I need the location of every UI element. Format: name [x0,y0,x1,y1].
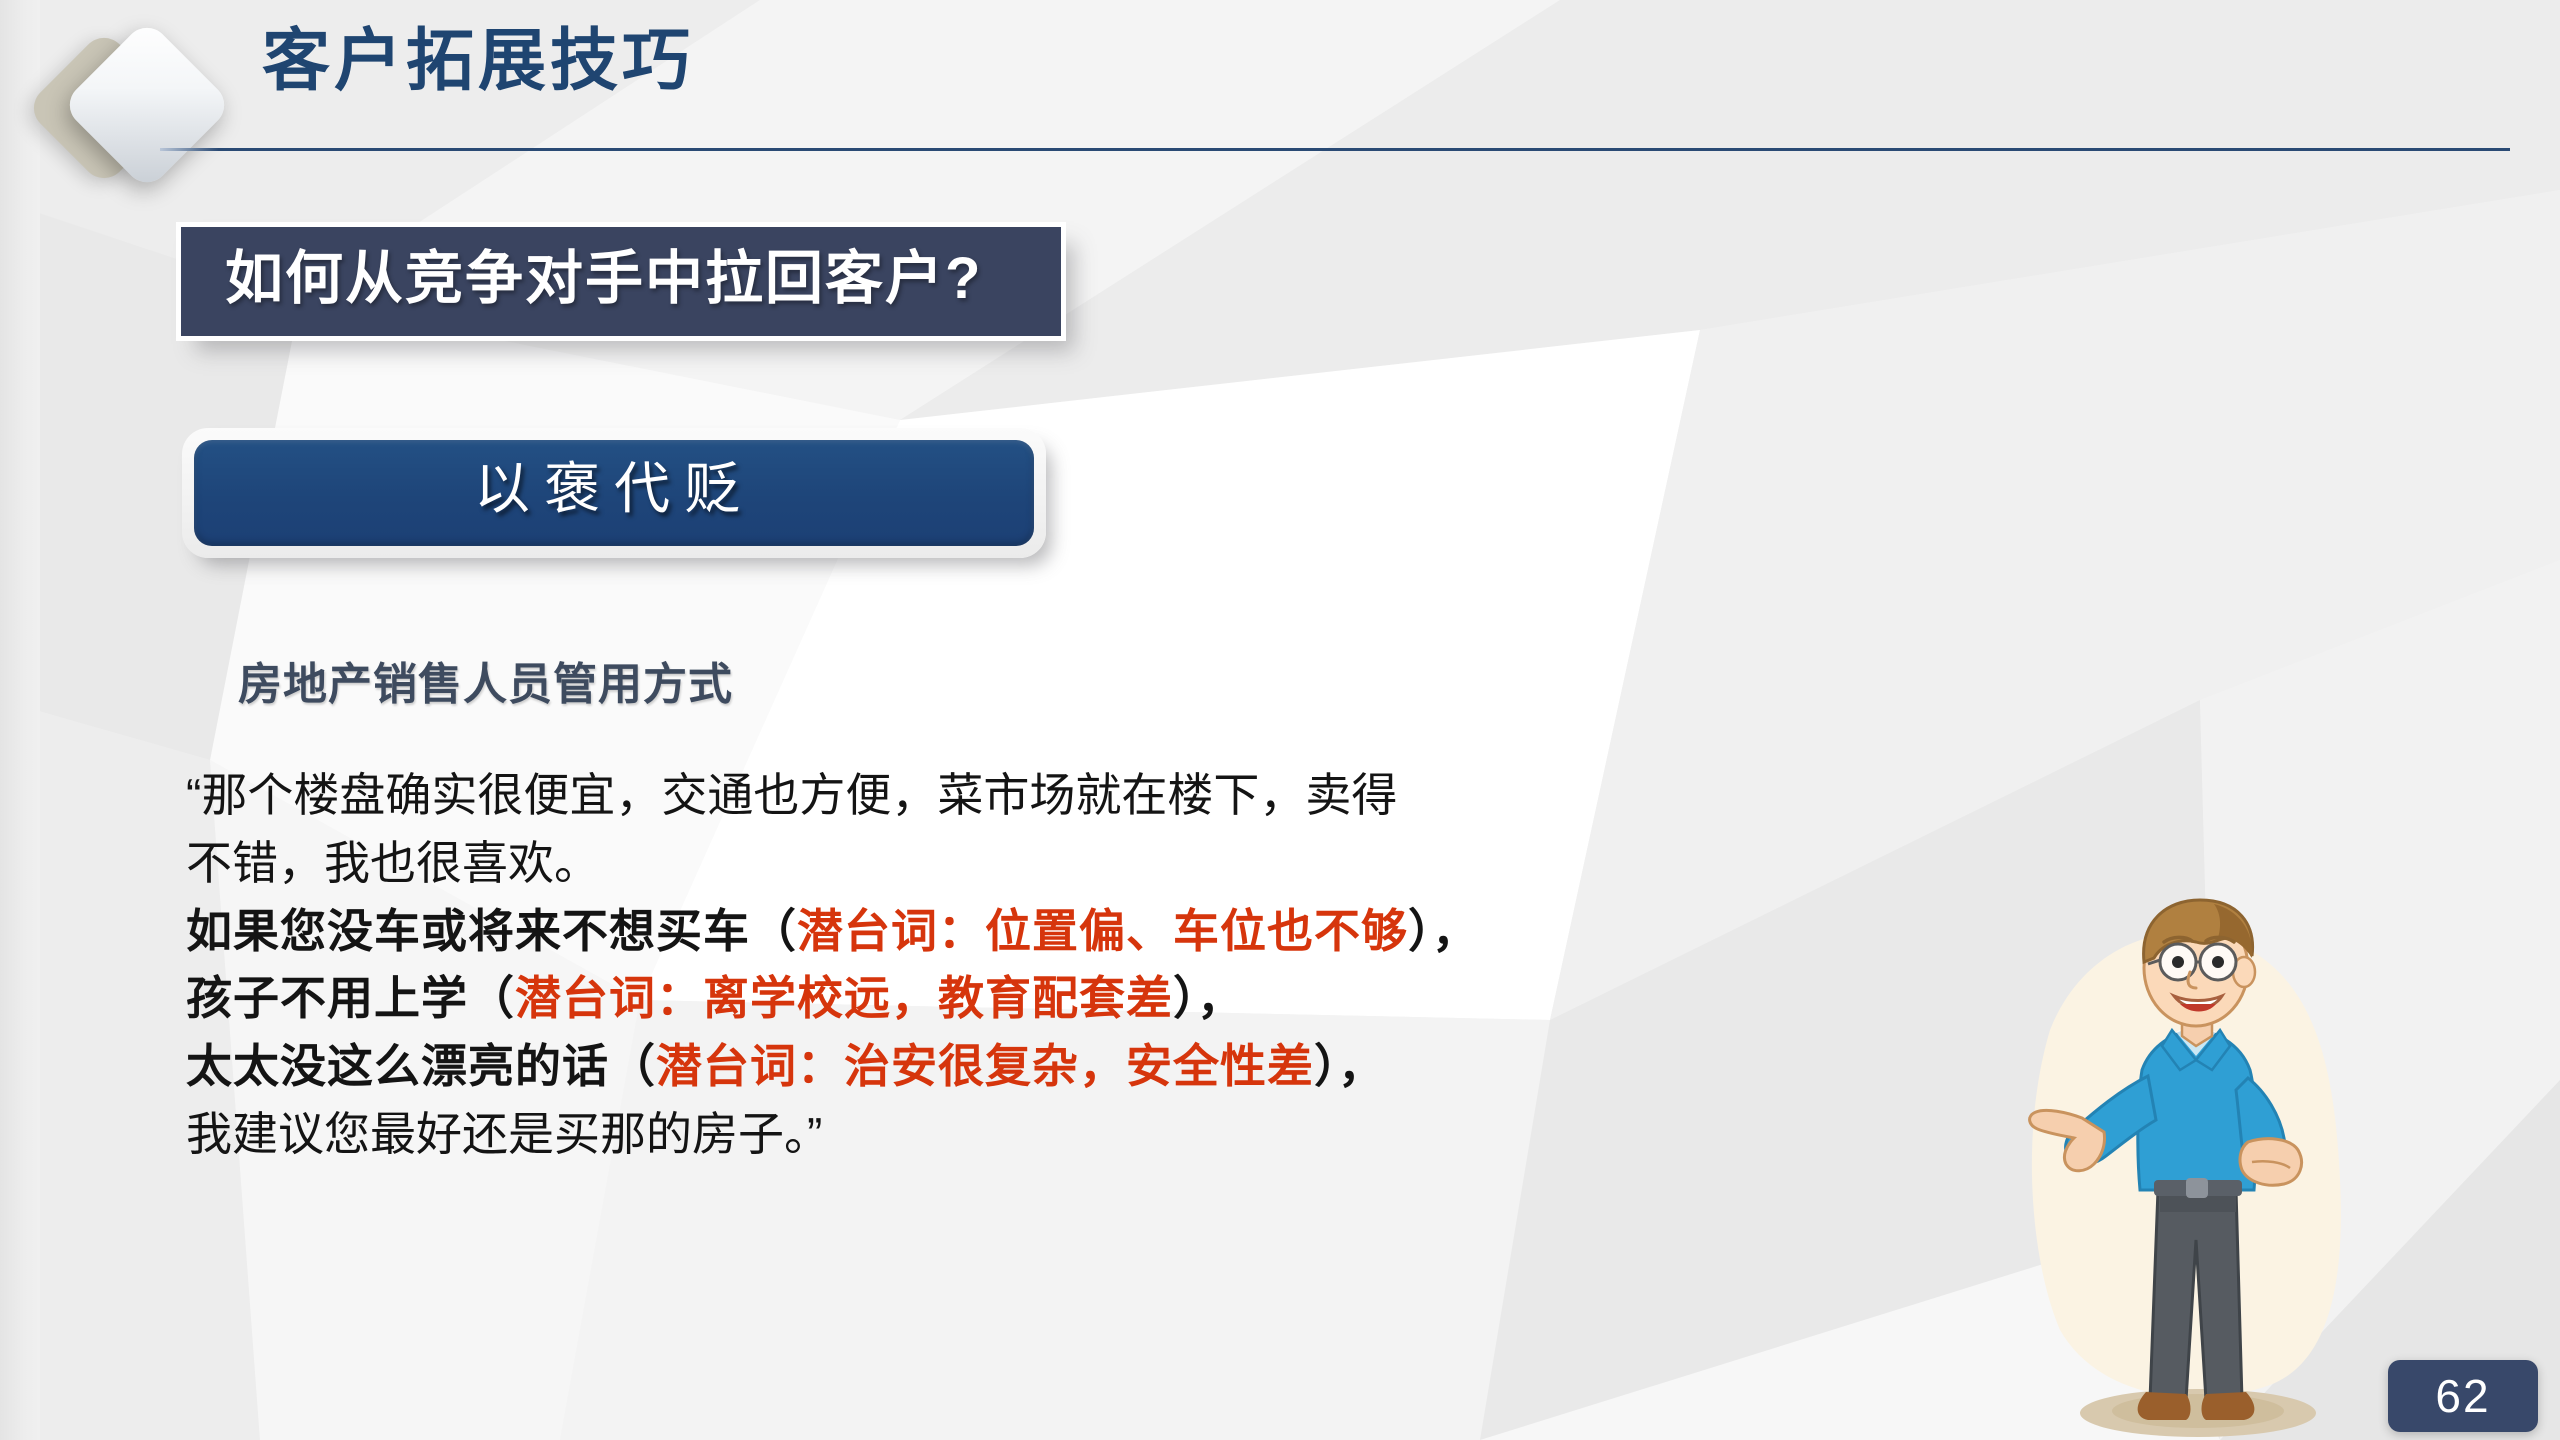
body-line-3: 如果您没车或将来不想买车（潜台词：位置偏、车位也不够）， [186,902,1886,962]
diamond-logo-decoration [30,18,220,198]
page-number-badge: 62 [2388,1360,2538,1432]
body-line-1: “那个楼盘确实很便宜，交通也方便，菜市场就在楼下，卖得 [186,766,1886,826]
presentation-slide: 客户拓展技巧 如何从竞争对手中拉回客户? 以褒代贬 房地产销售人员管用方式 “那… [0,0,2560,1440]
question-banner-fill: 如何从竞争对手中拉回客户? [181,227,1061,336]
body-line-4-post: ）， [1173,972,1244,1024]
body-line-5-post: ）， [1314,1040,1385,1092]
question-banner: 如何从竞争对手中拉回客户? [176,222,1066,341]
page-title: 客户拓展技巧 [262,22,694,100]
body-line-6: 我建议您最好还是买那的房子。” [186,1105,1886,1165]
body-line-4-subtext: 潜台词：离学校远，教育配套差 [515,972,1173,1024]
technique-pill-fill[interactable]: 以褒代贬 [194,440,1034,546]
body-line-3-subtext: 潜台词：位置偏、车位也不够 [797,905,1408,957]
body-line-5-subtext: 潜台词：治安很复杂，安全性差 [656,1040,1314,1092]
body-line-5: 太太没这么漂亮的话（潜台词：治安很复杂，安全性差）， [186,1037,1886,1097]
body-line-2: 不错，我也很喜欢。 [186,834,1886,894]
body-line-4-pre: 孩子不用上学（ [186,972,515,1024]
technique-pill-label: 以褒代贬 [474,459,754,521]
left-accent-band [0,0,40,1440]
body-line-5-pre: 太太没这么漂亮的话（ [186,1040,656,1092]
question-banner-label: 如何从竞争对手中拉回客户? [225,249,1017,310]
title-divider [160,148,2510,151]
body-line-4: 孩子不用上学（潜台词：离学校远，教育配套差）， [186,969,1886,1029]
pointing-man-illustration [1990,880,2410,1440]
body-line-3-pre: 如果您没车或将来不想买车（ [186,905,797,957]
sub-heading: 房地产销售人员管用方式 [238,648,733,712]
body-line-3-post: ）， [1408,905,1479,957]
technique-pill[interactable]: 以褒代贬 [182,428,1046,558]
body-text-block: “那个楼盘确实很便宜，交通也方便，菜市场就在楼下，卖得 不错，我也很喜欢。 如果… [186,766,1886,1173]
